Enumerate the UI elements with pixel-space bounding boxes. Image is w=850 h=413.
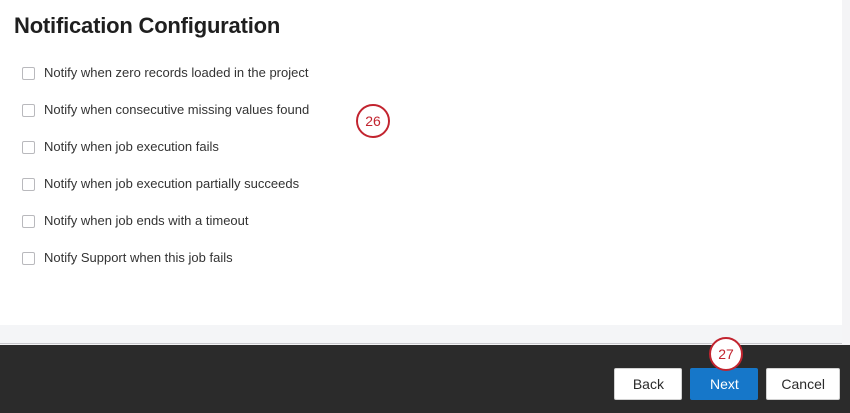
checkbox-job-timeout[interactable]	[22, 215, 35, 228]
page-title: Notification Configuration	[14, 13, 280, 39]
option-row-zero-records[interactable]: Notify when zero records loaded in the p…	[22, 62, 582, 84]
option-label-partially-succeeds: Notify when job execution partially succ…	[44, 176, 299, 192]
next-button[interactable]: Next	[690, 368, 758, 400]
option-row-consecutive-missing-values[interactable]: Notify when consecutive missing values f…	[22, 99, 582, 121]
option-row-partially-succeeds[interactable]: Notify when job execution partially succ…	[22, 173, 582, 195]
checkbox-zero-records[interactable]	[22, 67, 35, 80]
option-label-job-timeout: Notify when job ends with a timeout	[44, 213, 249, 229]
option-label-consecutive-missing-values: Notify when consecutive missing values f…	[44, 102, 309, 118]
back-button[interactable]: Back	[614, 368, 682, 400]
option-label-notify-support: Notify Support when this job fails	[44, 250, 233, 266]
annotation-badge-26: 26	[356, 104, 390, 138]
annotation-badge-27: 27	[709, 337, 743, 371]
checkbox-partially-succeeds[interactable]	[22, 178, 35, 191]
notification-options-list: Notify when zero records loaded in the p…	[22, 62, 582, 284]
option-row-notify-support[interactable]: Notify Support when this job fails	[22, 247, 582, 269]
footer-button-group: Back Next Cancel	[614, 368, 840, 400]
option-row-job-execution-fails[interactable]: Notify when job execution fails	[22, 136, 582, 158]
checkbox-job-execution-fails[interactable]	[22, 141, 35, 154]
option-label-job-execution-fails: Notify when job execution fails	[44, 139, 219, 155]
notification-configuration-screen: Notification Configuration Notify when z…	[0, 0, 850, 413]
content-panel: Notification Configuration Notify when z…	[0, 0, 842, 325]
checkbox-consecutive-missing-values[interactable]	[22, 104, 35, 117]
cancel-button[interactable]: Cancel	[766, 368, 840, 400]
option-row-job-timeout[interactable]: Notify when job ends with a timeout	[22, 210, 582, 232]
checkbox-notify-support[interactable]	[22, 252, 35, 265]
option-label-zero-records: Notify when zero records loaded in the p…	[44, 65, 308, 81]
